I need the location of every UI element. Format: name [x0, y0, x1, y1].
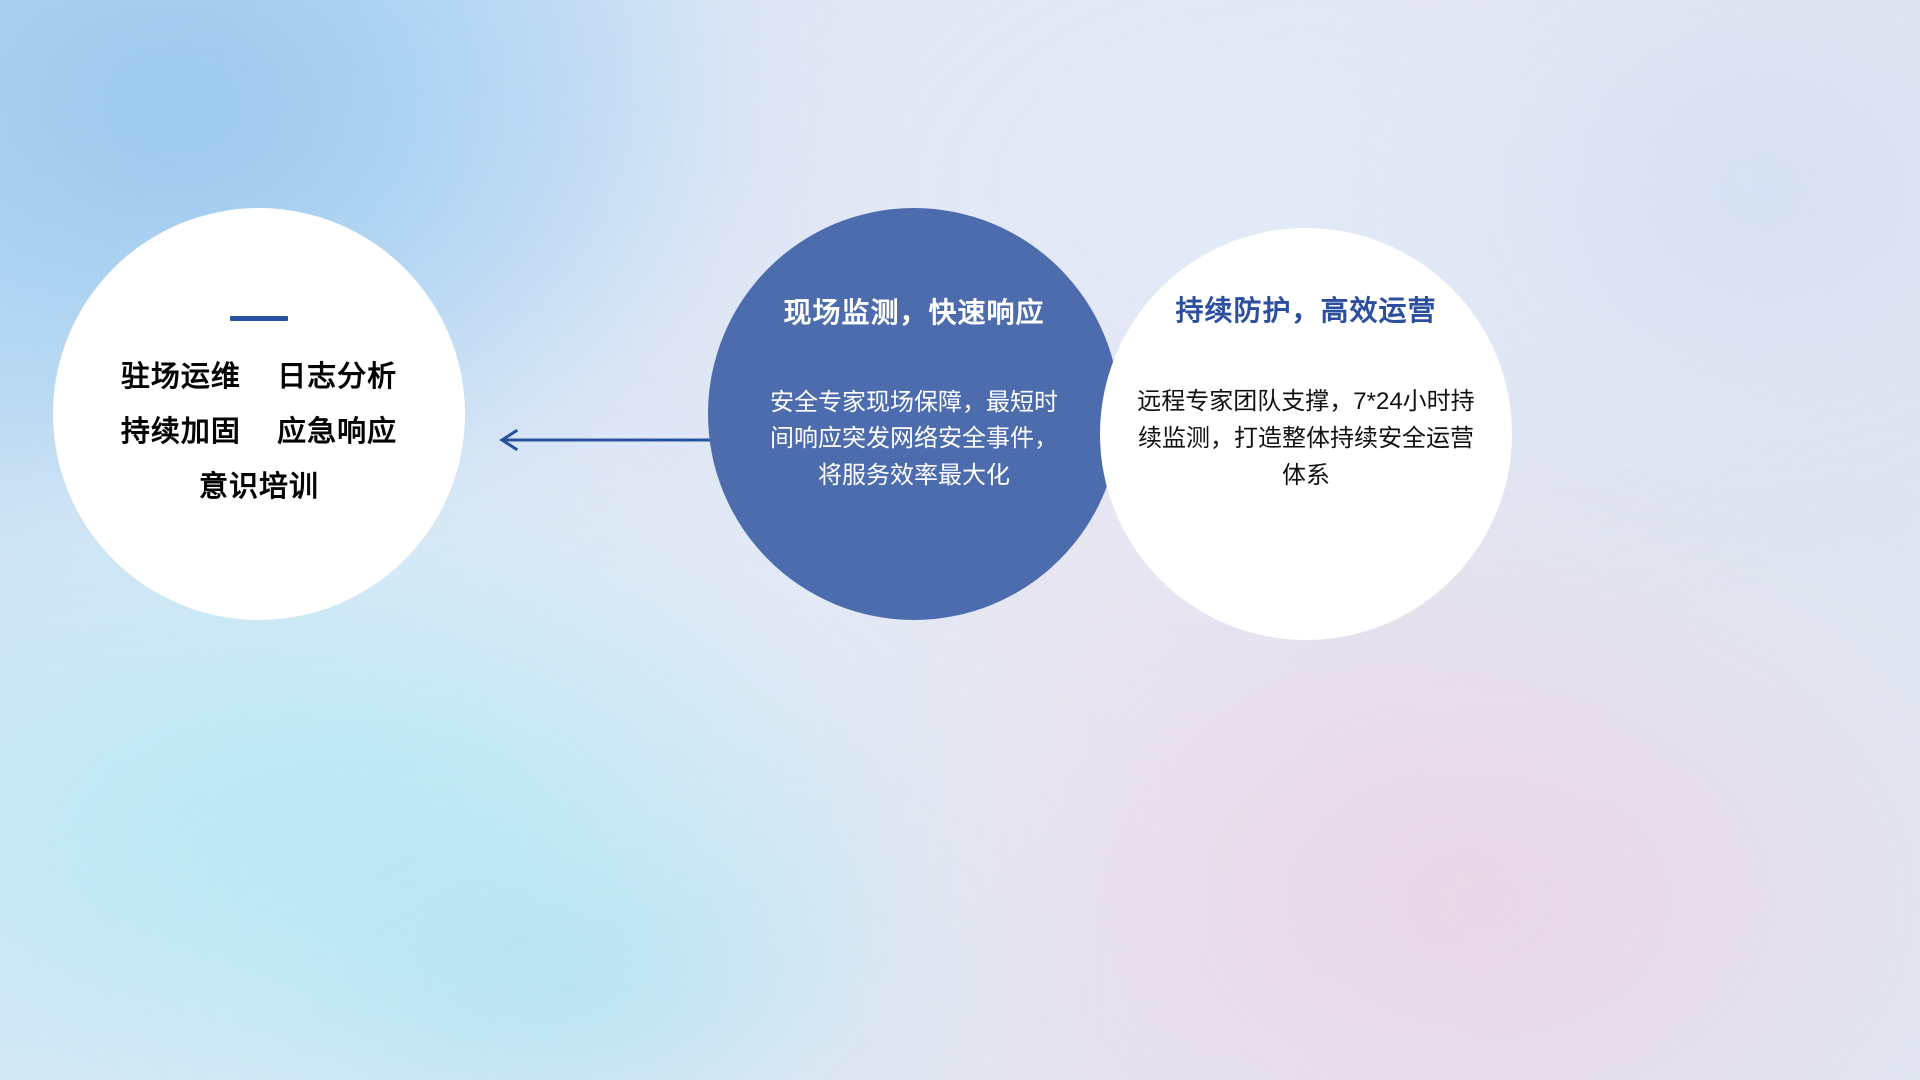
right-circle-title: 持续防护，高效运营: [1175, 296, 1436, 327]
background-glow-bottom-center: [120, 820, 1020, 1080]
slide-canvas: 驻场运维 日志分析 持续加固 应急响应 意识培训 现场监测，快速响应 安全专家现…: [0, 0, 1920, 1080]
left-circle-line-2: 持续加固 应急响应: [121, 418, 397, 447]
middle-circle-body: 安全专家现场保障，最短时间响应突发网络安全事件，将服务效率最大化: [764, 385, 1064, 494]
right-circle-content: 持续防护，高效运营 远程专家团队支撑，7*24小时持续监测，打造整体持续安全运营…: [1100, 228, 1512, 640]
middle-circle-title: 现场监测，快速响应: [783, 298, 1044, 329]
right-circle-body: 远程专家团队支撑，7*24小时持续监测，打造整体持续安全运营体系: [1130, 383, 1482, 495]
left-circle-line-1: 驻场运维 日志分析: [121, 363, 397, 392]
left-circle-line-3: 意识培训: [199, 473, 319, 502]
left-pointing-arrow-icon: [490, 424, 720, 456]
left-circle-content: 驻场运维 日志分析 持续加固 应急响应 意识培训: [53, 208, 465, 620]
dash-divider-icon: [230, 316, 288, 321]
middle-circle-content: 现场监测，快速响应 安全专家现场保障，最短时间响应突发网络安全事件，将服务效率最…: [708, 208, 1120, 620]
